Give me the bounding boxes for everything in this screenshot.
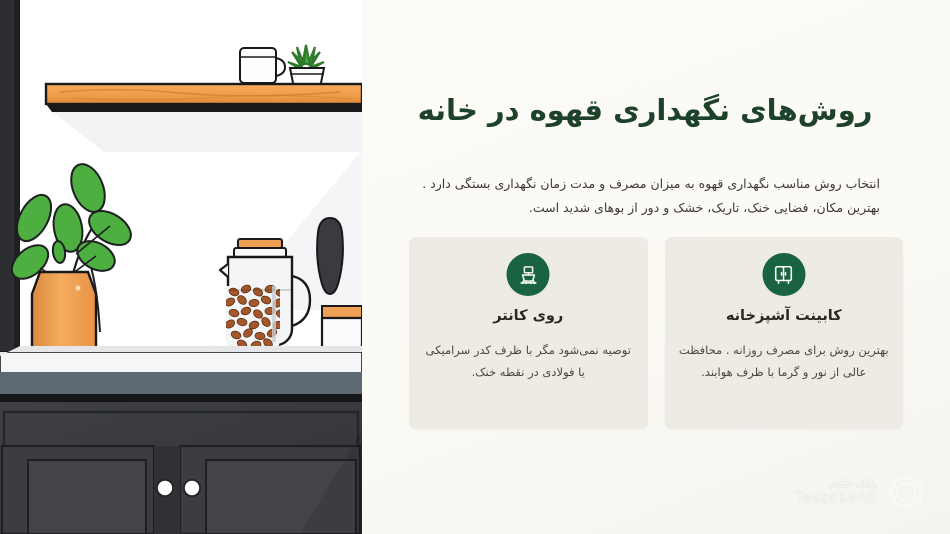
card-text: بهترین روش برای مصرف روزانه . محافظت عال… (679, 339, 890, 384)
logo-name-fa: بانک طعم (796, 477, 877, 490)
tastebank-logo: بانک طعم TasteBank (796, 472, 926, 512)
logo-wordmark: بانک طعم TasteBank (796, 477, 877, 506)
page-subtitle: انتخاب روش مناسب نگهداری قهوه به میزان م… (408, 172, 880, 221)
content-panel: روش‌های نگهداری قهوه در خانه انتخاب روش … (362, 0, 950, 534)
page-title: روش‌های نگهداری قهوه در خانه (410, 92, 880, 130)
card-text: توصیه نمی‌شود مگر با ظرف کدر سرامیکی یا … (423, 339, 634, 384)
storage-method-cards: کابینت آشپزخانه بهترین روش برای مصرف روز… (409, 237, 903, 429)
subtitle-line-1: انتخاب روش مناسب نگهداری قهوه به میزان م… (422, 176, 880, 191)
card-title: کابینت آشپزخانه (665, 308, 904, 324)
card-title: روی کانتر (409, 308, 648, 324)
counter-press-icon (507, 253, 550, 296)
cabinet-icon (762, 253, 805, 296)
card-kitchen-cabinet[interactable]: کابینت آشپزخانه بهترین روش برای مصرف روز… (665, 237, 904, 429)
kitchen-illustration (0, 0, 362, 534)
laurel-wreath-icon (886, 472, 926, 512)
slide-root: روش‌های نگهداری قهوه در خانه انتخاب روش … (0, 0, 950, 534)
logo-name-en: TasteBank (796, 491, 877, 507)
subtitle-line-2: بهترین مکان، فضایی خنک، تاریک، خشک و دور… (408, 196, 880, 220)
card-on-counter[interactable]: روی کانتر توصیه نمی‌شود مگر با ظرف کدر س… (409, 237, 648, 429)
